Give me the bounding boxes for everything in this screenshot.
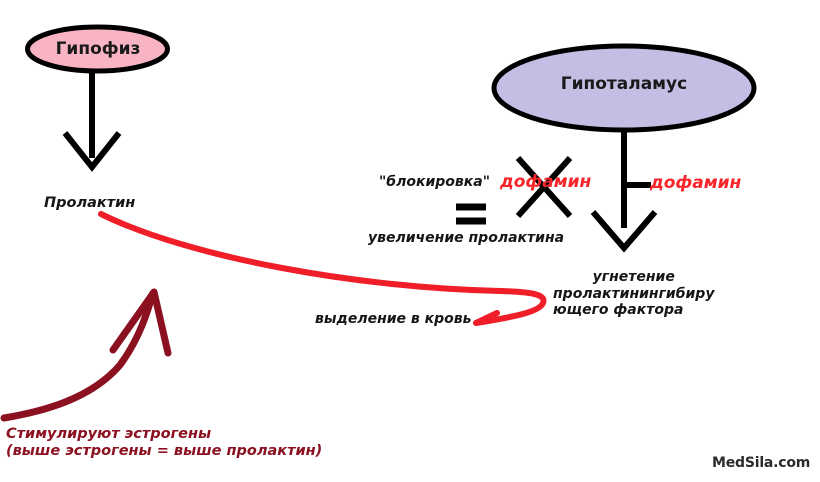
prolactin-label: Пролактин	[44, 195, 135, 212]
watermark: MedSila.com	[712, 455, 810, 471]
ugnetenie-factor-label: угнетение пролактинингибиру ющего фактор…	[553, 269, 714, 319]
estrogen-line-2: (выше эстрогены = выше пролактин)	[6, 443, 322, 460]
arrow-hypothalamus-down	[593, 128, 655, 248]
ugnetenie-line-3: ющего фактора	[553, 302, 714, 319]
dofamin-crossed-label: дофамин	[500, 172, 591, 192]
dofamin-label: дофамин	[650, 173, 741, 193]
blokirovka-label: "блокировка"	[379, 174, 490, 191]
ugnetenie-line-2: пролактинингибиру	[553, 286, 714, 303]
estrogen-line-1: Стимулируют эстрогены	[6, 426, 322, 443]
hypothalamus-label: Гипоталамус	[493, 74, 755, 94]
uvelichenie-prolaktina-label: увеличение пролактина	[368, 230, 564, 247]
diagram-canvas: Гипофиз Гипоталамус Пролактин "блокировк…	[0, 0, 820, 482]
pituitary-label: Гипофиз	[25, 39, 171, 59]
dark-red-estrogen-arrow	[4, 292, 168, 418]
arrow-pituitary-to-prolactin	[65, 71, 119, 167]
ugnetenie-line-1: угнетение	[553, 269, 714, 286]
vydelenie-v-krov-label: выделение в кровь	[315, 311, 472, 328]
equals-sign-icon	[456, 207, 486, 221]
estrogen-note-label: Стимулируют эстрогены (выше эстрогены = …	[6, 426, 322, 460]
